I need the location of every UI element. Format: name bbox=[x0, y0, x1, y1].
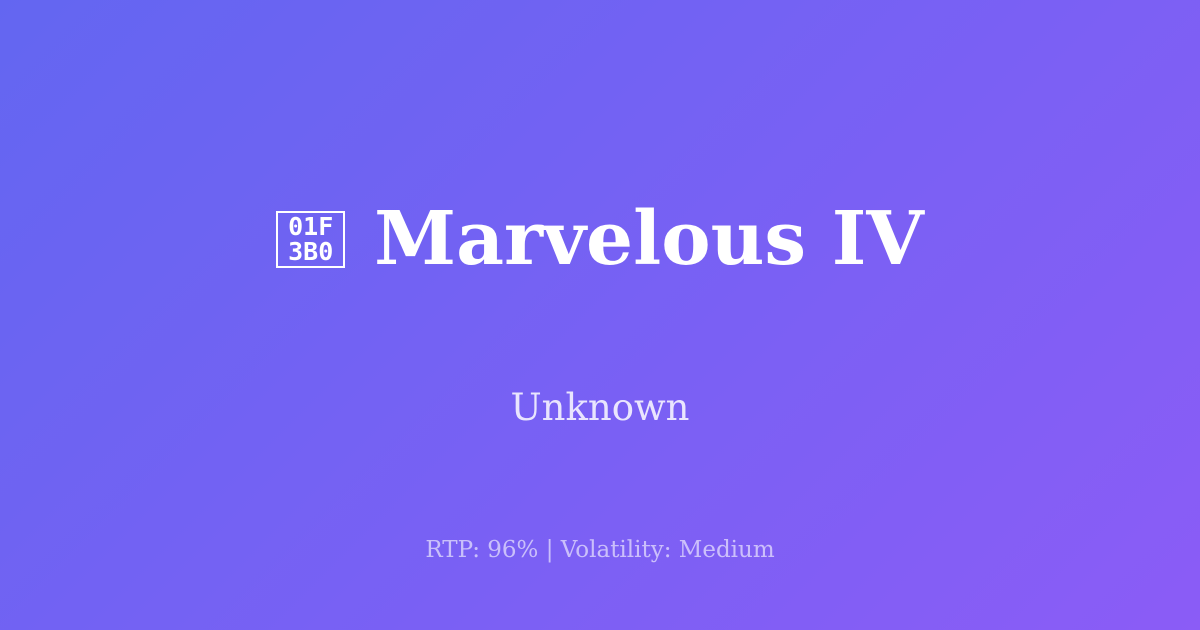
game-meta-line: RTP: 96% | Volatility: Medium bbox=[0, 539, 1200, 562]
title-row: 01F 3B0 Marvelous IV bbox=[0, 152, 1200, 325]
hero-block: 01F 3B0 Marvelous IV Unknown bbox=[0, 152, 1200, 425]
tofu-codepoint-top: 01F bbox=[288, 214, 333, 239]
game-title: Marvelous IV bbox=[374, 202, 924, 276]
tofu-codepoint-bottom: 3B0 bbox=[288, 239, 333, 264]
game-subtitle: Unknown bbox=[510, 389, 689, 426]
slot-machine-emoji-icon: 01F 3B0 bbox=[276, 211, 345, 268]
og-share-card: 01F 3B0 Marvelous IV Unknown RTP: 96% | … bbox=[0, 0, 1200, 630]
